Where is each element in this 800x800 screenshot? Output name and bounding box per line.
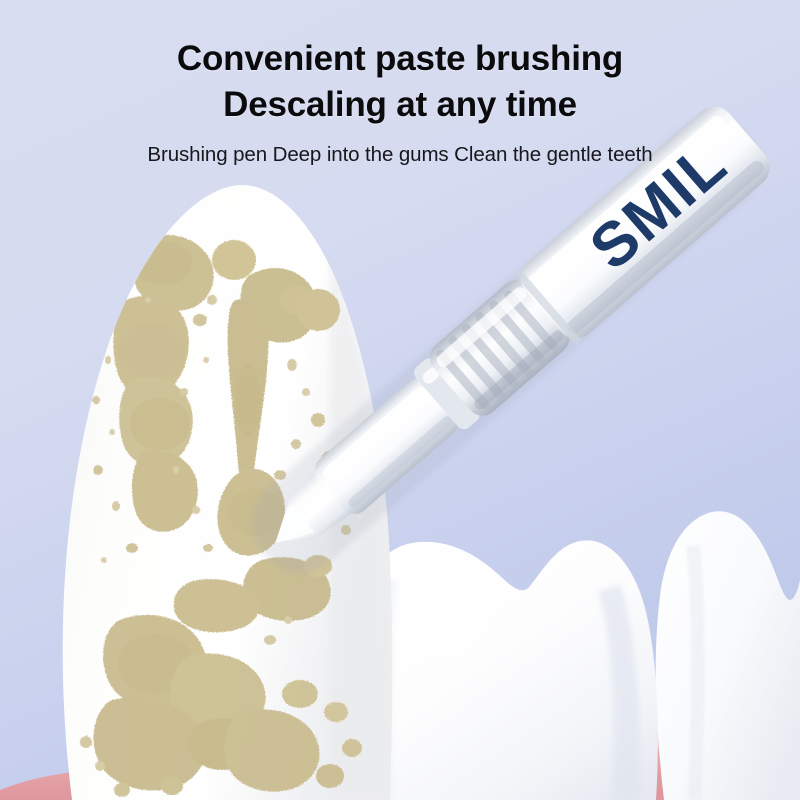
illustration-canvas: SMIL (0, 0, 800, 800)
clean-molars (356, 511, 800, 800)
product-banner: SMIL Convenient paste brushing Descaling… (0, 0, 800, 800)
